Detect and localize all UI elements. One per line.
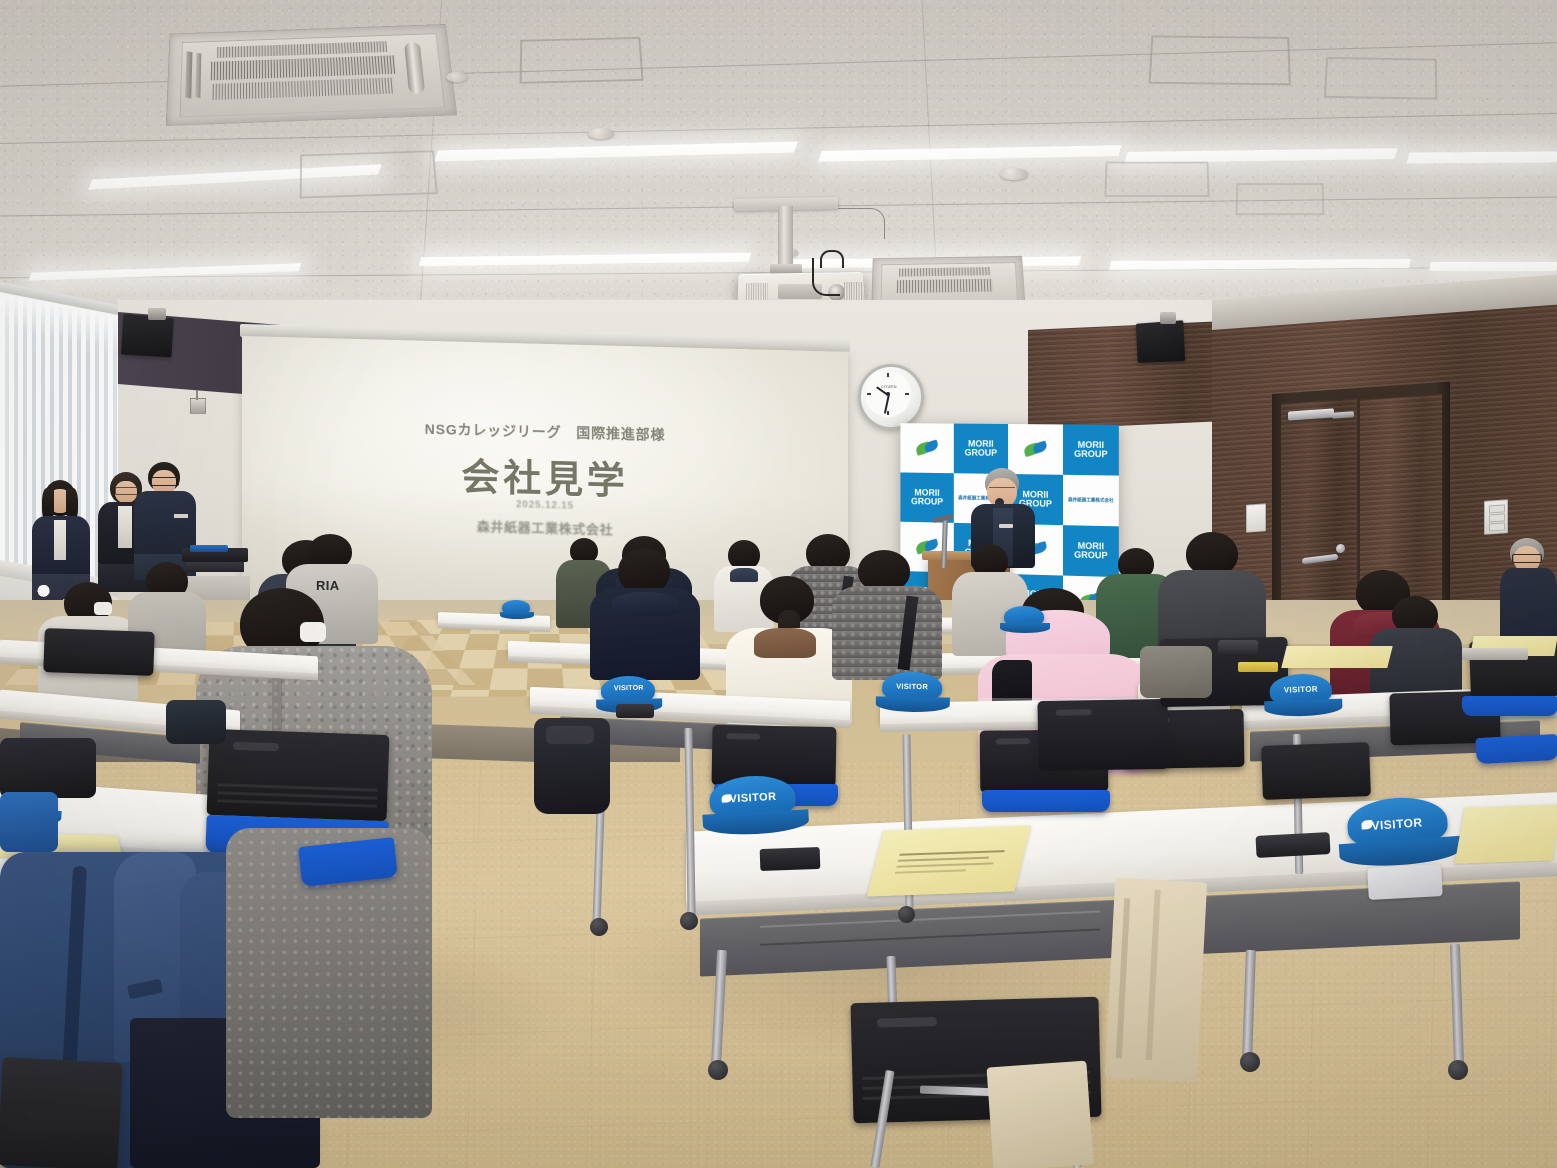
face-mask (94, 602, 112, 615)
chair-seat[interactable] (982, 790, 1110, 812)
visitor-cap-7 (1000, 606, 1050, 634)
smoke-detector (446, 72, 468, 82)
wall-speaker (121, 314, 174, 358)
yellow-marker (1238, 662, 1278, 672)
chair-seat[interactable] (1462, 696, 1557, 716)
cap-label: VISITOR (1284, 684, 1318, 694)
speaker-bracket (148, 308, 166, 320)
wall-speaker (1136, 320, 1185, 363)
ceiling-vent (1149, 36, 1291, 86)
small-device (1218, 640, 1258, 654)
backdrop-cell: MORII GROUP (954, 424, 1008, 474)
backdrop-cell (900, 423, 953, 473)
speaker-bracket (1160, 312, 1176, 324)
ceiling-vent (1324, 57, 1438, 100)
bag (0, 738, 96, 798)
presenter-glasses (989, 487, 1015, 493)
visitor-cap-4: VISITOR (876, 671, 951, 714)
hood (612, 592, 678, 616)
table-caster (898, 906, 915, 923)
ceiling-light-strip (1406, 151, 1557, 163)
table-caster (680, 912, 698, 930)
smoke-detector (1000, 168, 1028, 180)
notebook (1462, 648, 1528, 660)
bag-detail (546, 726, 594, 744)
gray-tweed-jacket (832, 586, 942, 680)
audience-person-mid-3 (832, 550, 942, 680)
table-caster (590, 918, 608, 936)
face-mask (300, 622, 326, 642)
ceiling-vent (520, 37, 644, 84)
yellow-document-2 (1455, 804, 1557, 863)
yellow-document-3 (1281, 646, 1392, 668)
chair-back[interactable] (207, 729, 390, 821)
presenter-name-tag (999, 524, 1013, 528)
blue-item (0, 792, 58, 852)
glasses (1512, 554, 1542, 563)
small-device (616, 704, 654, 718)
table-caster (1240, 1052, 1260, 1072)
clock-brand: CITIZEN (881, 384, 897, 389)
seminar-room-photo: NSGカレッジリーグ 国際推進部様 会社見学 2025.12.15 森井紙器工業… (0, 0, 1557, 1168)
ceiling-vent (300, 150, 438, 198)
light-switch-plate[interactable] (1484, 499, 1508, 535)
ceiling-vent (1236, 183, 1325, 215)
ceiling-ac-unit (166, 24, 457, 126)
light-switch-plate[interactable] (1246, 503, 1266, 532)
visitor-cap-2: VISITOR (1336, 794, 1462, 870)
chair-back[interactable] (0, 1057, 123, 1168)
chair-back[interactable] (43, 628, 154, 676)
eyeglasses-case (1255, 832, 1330, 858)
chair-seat[interactable] (1475, 734, 1557, 764)
beige-cloth-2 (986, 1061, 1093, 1168)
bag (166, 700, 226, 744)
ceiling-light-strip (1429, 262, 1557, 271)
visitor-cap-1: VISITOR (701, 773, 810, 838)
wall-mount-post (196, 390, 198, 400)
staff-name-tag (174, 514, 188, 518)
brown-collar (754, 628, 816, 658)
folded-cap-stack (190, 545, 228, 552)
remote-control (760, 847, 821, 871)
smartphone[interactable] (1367, 864, 1443, 900)
yellow-document-1 (867, 825, 1031, 896)
staff-glasses (151, 477, 179, 486)
backdrop-cell: 森井紙器工業株式会社 (1063, 475, 1119, 527)
table-caster (708, 1060, 728, 1080)
smoke-detector (588, 128, 614, 139)
audience-person-mid-1 (590, 548, 700, 678)
chair-back[interactable] (1261, 742, 1371, 800)
wall-mount-bracket (190, 398, 206, 414)
ceiling-vent (1104, 162, 1209, 197)
bag (1140, 646, 1212, 698)
cap-label: VISITOR (614, 685, 644, 693)
cap-label: VISITOR (729, 791, 776, 805)
backdrop-cell: MORII GROUP (1063, 424, 1119, 475)
cap-label: VISITOR (896, 682, 928, 692)
visitor-cap-3: VISITOR (1263, 673, 1342, 720)
visitor-cap-far-1 (500, 600, 534, 620)
table-caster (1448, 1060, 1468, 1080)
chair-back[interactable] (1037, 699, 1168, 771)
beige-cloth (1105, 878, 1207, 1083)
wall-clock: CITIZEN (858, 364, 924, 430)
